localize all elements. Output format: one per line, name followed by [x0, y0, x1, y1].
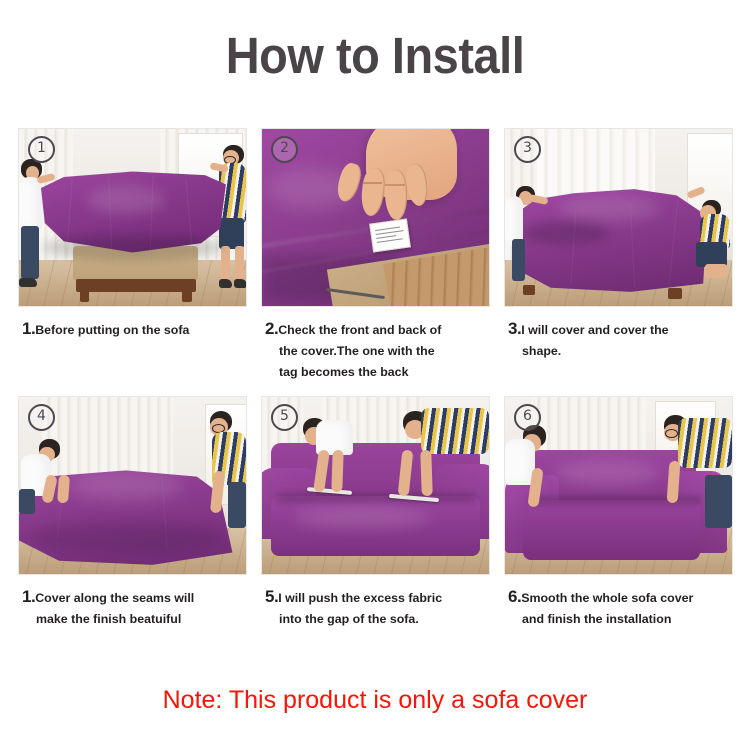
step-caption-line: I will cover and cover the	[521, 323, 668, 337]
steps-row-top: 1 1.Before putting on the sofa	[18, 128, 734, 383]
step-photo-6: 6	[504, 396, 733, 575]
step-caption-line: Cover along the seams will	[35, 591, 194, 605]
product-note: Note: This product is only a sofa cover	[0, 686, 750, 715]
step-badge-1: 1	[28, 136, 55, 163]
step-card-2: 2 2.Check the front and back of the cove…	[261, 128, 490, 383]
step-photo-4: 4	[18, 396, 247, 575]
step-caption-3: 3.I will cover and cover the shape.	[504, 318, 733, 362]
step-caption-line: I will push the excess fabric	[278, 591, 442, 605]
step-caption-line: the cover.The one with the	[265, 341, 490, 362]
step-caption-4: 1.Cover along the seams will make the fi…	[18, 586, 247, 630]
step-number-5: 5.	[265, 587, 278, 606]
step-card-6: 6 6.Smooth the whole sofa cover and fini…	[504, 396, 733, 630]
step-badge-2: 2	[271, 136, 298, 163]
step-caption-line: and finish the installation	[508, 609, 733, 630]
step-photo-5: 5	[261, 396, 490, 575]
step-badge-4: 4	[28, 404, 55, 431]
step-number-6: 6.	[508, 587, 521, 606]
step-caption-line: tag becomes the back	[265, 362, 490, 383]
step-card-4: 4 1.Cover along the seams will make the …	[18, 396, 247, 630]
page-title: How to Install	[30, 26, 720, 85]
step-caption-line: Before putting on the sofa	[35, 323, 189, 337]
step-photo-1: 1	[18, 128, 247, 307]
how-to-install-infographic: How to Install	[0, 0, 750, 750]
care-tag	[369, 219, 411, 253]
step-caption-line: make the finish beatuiful	[22, 609, 247, 630]
step-caption-1: 1.Before putting on the sofa	[18, 318, 247, 341]
step-caption-line: into the gap of the sofa.	[265, 609, 490, 630]
step-photo-3: 3	[504, 128, 733, 307]
step-badge-6: 6	[514, 404, 541, 431]
step-caption-line: shape.	[508, 341, 733, 362]
step-photo-2: 2	[261, 128, 490, 307]
step-caption-line: Check the front and back of	[278, 323, 441, 337]
step-number-1: 1.	[22, 319, 35, 338]
step-caption-line: Smooth the whole sofa cover	[521, 591, 693, 605]
step-badge-5: 5	[271, 404, 298, 431]
step-badge-3: 3	[514, 136, 541, 163]
step-number-3: 3.	[508, 319, 521, 338]
step-caption-5: 5.I will push the excess fabric into the…	[261, 586, 490, 630]
step-caption-6: 6.Smooth the whole sofa cover and finish…	[504, 586, 733, 630]
steps-grid: 1 1.Before putting on the sofa	[18, 128, 734, 630]
step-caption-2: 2.Check the front and back of the cover.…	[261, 318, 490, 383]
step-card-3: 3 3.I will cover and cover the shape.	[504, 128, 733, 383]
steps-row-bottom: 4 1.Cover along the seams will make the …	[18, 396, 734, 630]
step-number-2: 2.	[265, 319, 278, 338]
step-card-1: 1 1.Before putting on the sofa	[18, 128, 247, 383]
step-card-5: 5 5.I will push the excess fabric into t…	[261, 396, 490, 630]
step-number-4: 1.	[22, 587, 35, 606]
